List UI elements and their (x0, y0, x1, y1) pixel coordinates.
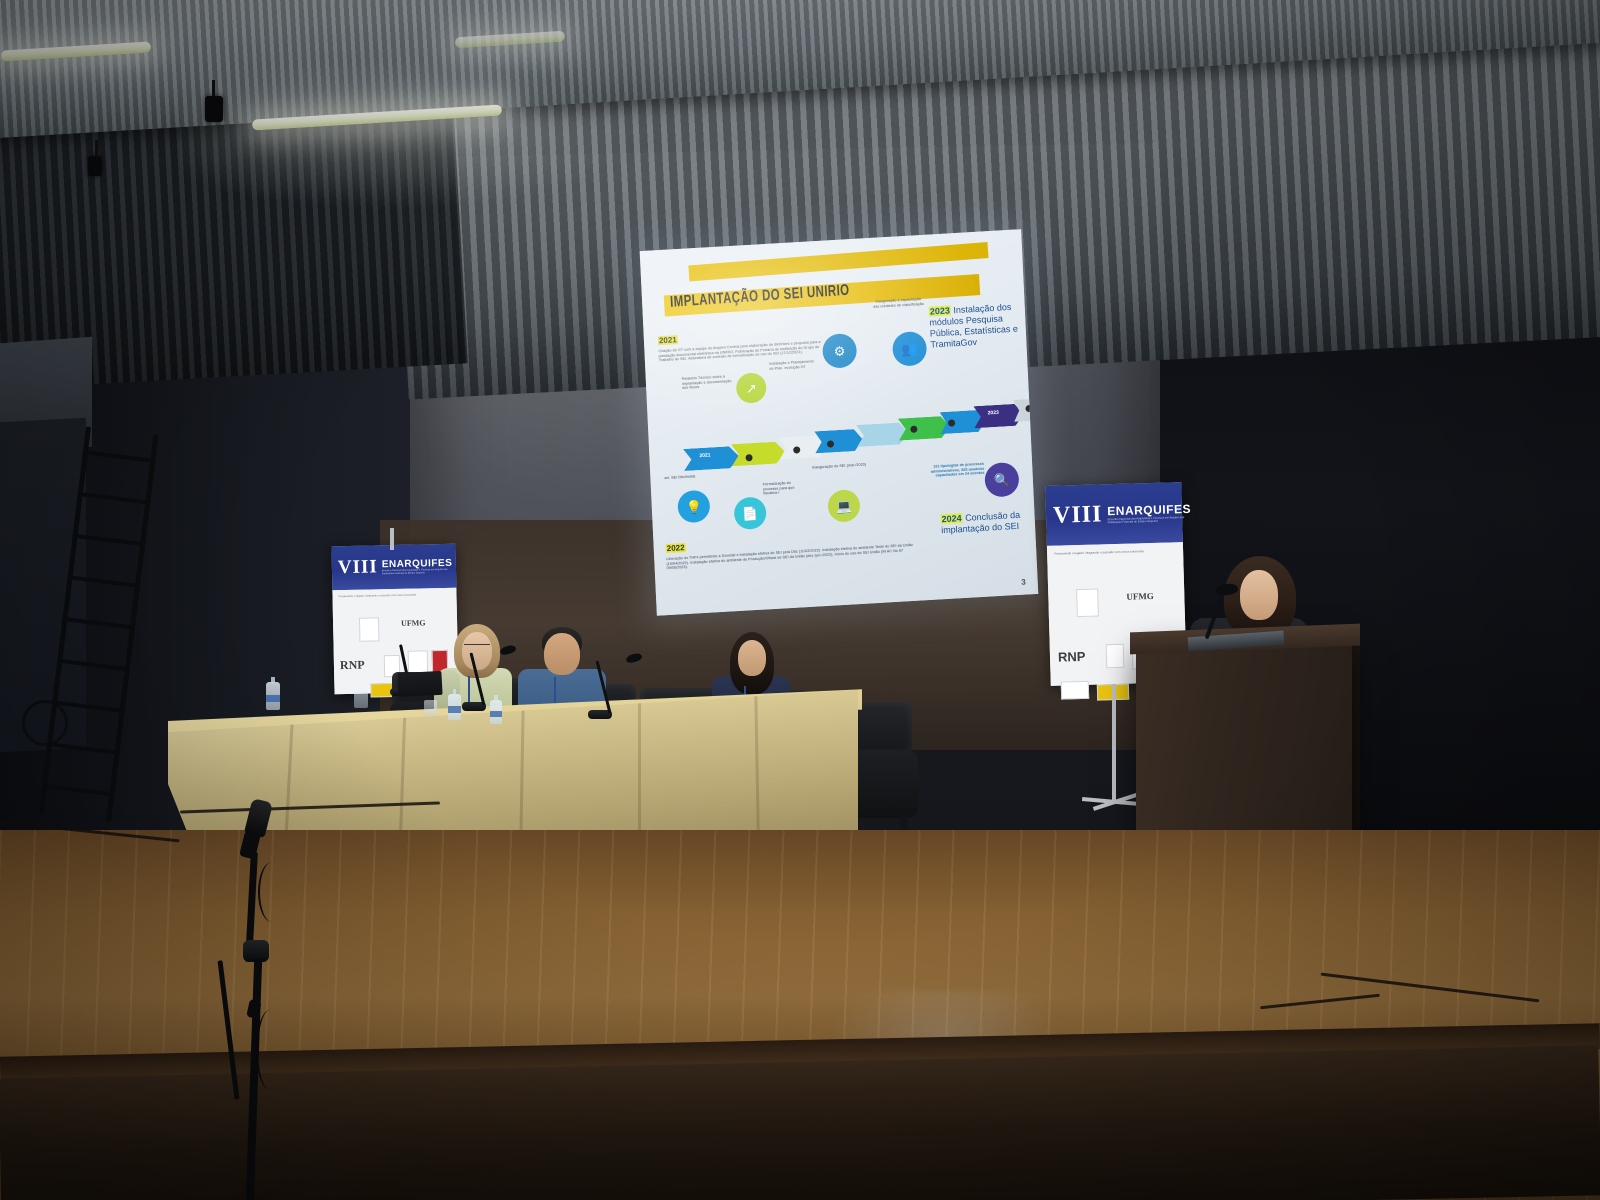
banner-right-subtitle: Encontro Nacional dos Arquivistas e Técn… (1108, 516, 1190, 525)
banner-left-subtitle: Encontro Nacional dos Arquivistas e Técn… (382, 569, 458, 576)
water-bottle (490, 700, 502, 724)
banner-left-header: VIII ENARQUIFES Encontro Nacional dos Ar… (331, 544, 456, 591)
slide-caption-4: art. SEI Dtic/Instal. (664, 473, 716, 481)
trending-up-icon: ↗ (736, 372, 767, 404)
water-bottle (266, 682, 280, 710)
drinking-glass (354, 690, 368, 708)
slide-block-2023: 2023 Instalação dos módulos Pesquisa Púb… (929, 301, 1023, 350)
lightbulb-icon: 💡 (677, 490, 710, 524)
slide-year-2022: 2022 (666, 543, 686, 553)
banner-right-stand (1112, 684, 1116, 804)
conference-stage-photo: IMPLANTAÇÃO DO SEI UNIRIO 2021 Criação d… (0, 0, 1600, 1200)
banner-right-edition: VIII (1053, 501, 1103, 529)
timeline-arrow-4 (814, 429, 863, 454)
document-flow-icon: 📄 (733, 496, 766, 530)
slide-caption-7: 161 tipologias de processos administrati… (922, 462, 985, 479)
table-monitor (397, 671, 442, 697)
panelist-2-head (544, 633, 580, 675)
water-bottle (448, 694, 461, 720)
speaker-head (1240, 570, 1278, 620)
logo-rnp: RNP (1058, 649, 1086, 665)
banner-left-tagline: Preservando o legado: integrando o passa… (338, 593, 448, 599)
slide-caption-3: Inauguração e capacitação das unidades d… (872, 297, 924, 309)
banner-left-pole (390, 528, 394, 550)
banner-right-tagline: Preservando o legado: integrando o passa… (1054, 548, 1174, 556)
slide-year-2021: 2021 (658, 335, 678, 345)
gears-icon: ⚙ (822, 333, 858, 369)
microphone-cable (258, 862, 286, 922)
slide-year-2024: 2024 (940, 513, 962, 524)
slide-caption-2: Instalação e Planejamento do Plan. evolu… (769, 359, 819, 371)
logo-ufmg-left: UFMG (401, 619, 426, 629)
slide-page-number: 3 (1021, 578, 1026, 587)
logo-capes-left (359, 618, 379, 642)
slide-block-2024: 2024 Conclusão da implantação do SEI (940, 509, 1033, 536)
magnifier-icon: 🔍 (984, 462, 1020, 498)
slide-caption-1: Relatório Técnico sobre a implantação e … (682, 374, 735, 391)
panelist-3-head (738, 640, 766, 676)
projected-slide: IMPLANTAÇÃO DO SEI UNIRIO 2021 Criação d… (640, 229, 1039, 616)
slide-text-2022: Liberação do THF4 permitindo a Dovetail … (666, 543, 914, 571)
panelist-1-glasses (464, 644, 490, 651)
timeline-arrow-6 (898, 416, 951, 441)
slide-block-2022: 2022 Liberação do THF4 permitindo a Dove… (665, 524, 916, 571)
timeline-label-2021: 2021 (699, 452, 710, 459)
panelist-1-head (462, 632, 492, 670)
slide-year-2023: 2023 (929, 305, 951, 316)
logo-asta (1106, 644, 1125, 668)
slide-caption-5: Formalização do processo para que fiscal… (763, 480, 808, 496)
slide-caption-6: Inauguração do SEI (mar./2023) (808, 462, 870, 470)
banner-left-edition: VIII (338, 557, 378, 580)
logo-ufmg: UFMG (1126, 591, 1154, 602)
timeline-arrow-1 (683, 446, 740, 471)
hanging-light-fixture (205, 96, 223, 122)
timeline-arrow-5 (856, 422, 909, 447)
drinking-glass (424, 700, 437, 716)
logo-rnp-left: RNP (340, 658, 365, 674)
people-group-icon: 👥 (892, 331, 928, 367)
laptop-icon: 💻 (827, 489, 860, 523)
microphone-cable (256, 1010, 284, 1090)
timeline-arrow-2 (731, 441, 786, 466)
logo-capes (1076, 589, 1099, 618)
timeline-label-2023: 2023 (988, 410, 999, 417)
banner-right-header: VIII ENARQUIFES Encontro Nacional dos Ar… (1045, 482, 1183, 546)
slide-block-2021: 2021 Criação do GT com a equipe do Arqui… (657, 320, 838, 363)
logo-esta (1061, 681, 1089, 700)
hanging-light-fixture (88, 156, 102, 176)
